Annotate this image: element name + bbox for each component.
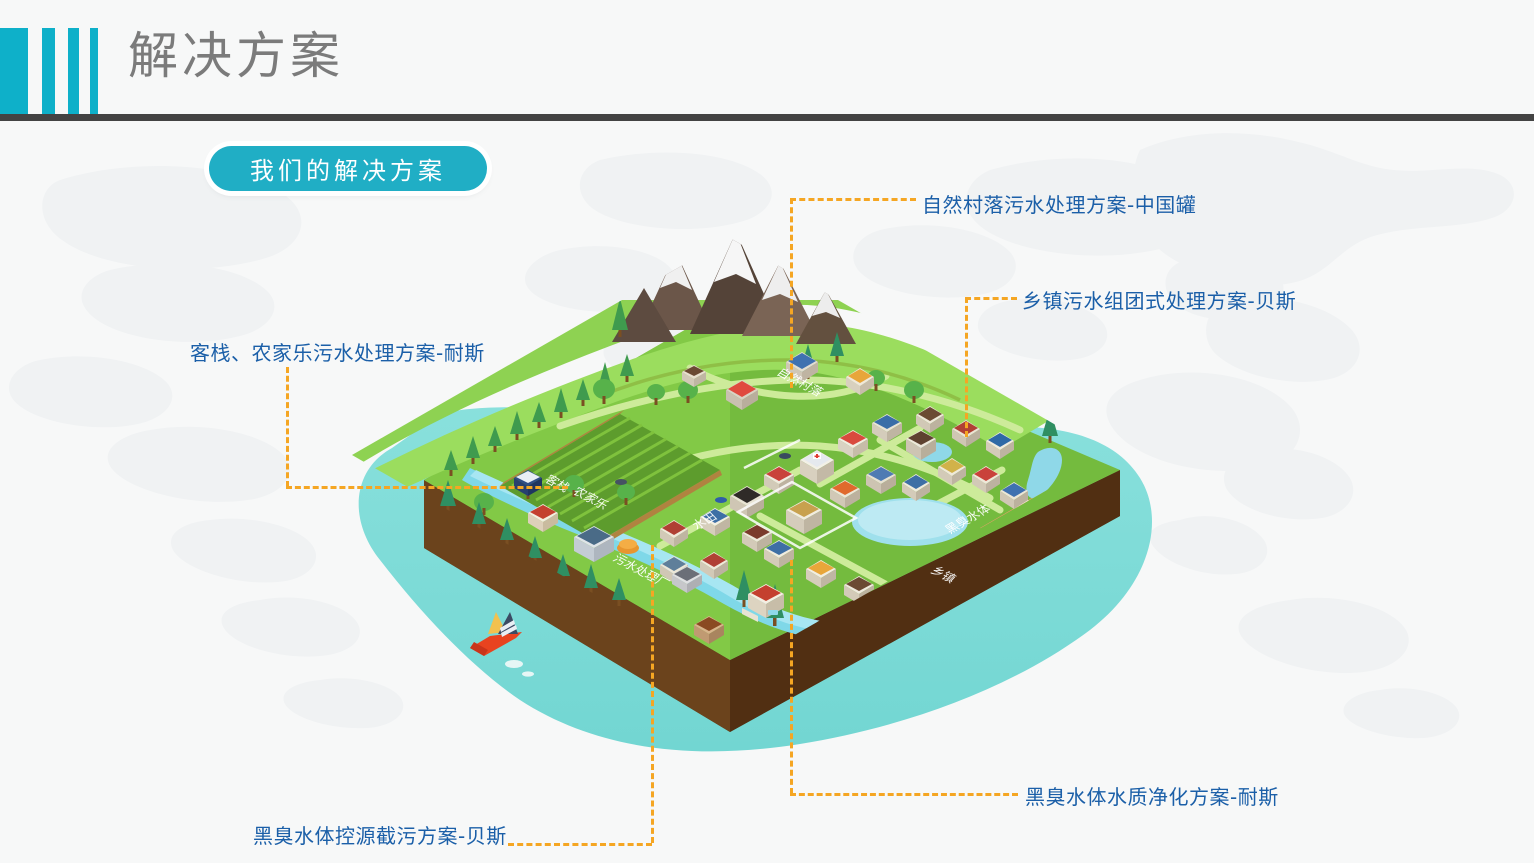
slide-canvas: 解决方案 我们的解决方案 xyxy=(0,0,1534,863)
map-label-paddy: 水田 xyxy=(689,510,720,532)
world-map-watermark xyxy=(0,0,1534,863)
connector-nice-inn-horizontal xyxy=(286,486,568,489)
connector-bess-vertical xyxy=(965,297,968,437)
map-label-farmstay: 农家乐 xyxy=(570,484,612,512)
map-label-natural-village: 自然村落 xyxy=(774,365,827,399)
connector-bess-horizontal xyxy=(965,297,1017,300)
section-badge: 我们的解决方案 xyxy=(209,146,487,191)
connector-nice-water-horizontal xyxy=(790,793,1018,796)
connector-china-tank-vertical xyxy=(790,198,793,388)
callout-label-nice-water: 黑臭水体水质净化方案-耐斯 xyxy=(1025,781,1279,810)
connector-bess-intercept-vertical xyxy=(651,545,654,843)
callout-label-bess-intercept: 黑臭水体控源截污方案-贝斯 xyxy=(253,820,507,849)
map-label-township: 乡镇 xyxy=(928,564,959,586)
callout-label-bess: 乡镇污水组团式处理方案-贝斯 xyxy=(1022,285,1296,314)
connector-bess-intercept-horizontal xyxy=(508,843,652,846)
header-divider-rule xyxy=(0,114,1534,121)
map-label-sewage-works: 污水处理厂 xyxy=(610,552,672,591)
isometric-village-illustration: 客栈 农家乐 水田 自然村落 乡镇 黑臭水体 污水处理厂 xyxy=(0,0,1534,863)
connector-china-tank-horizontal xyxy=(790,198,916,201)
connector-nice-water-vertical xyxy=(790,560,793,794)
map-label-black-odorous: 黑臭水体 xyxy=(942,501,994,536)
sailboat xyxy=(470,612,534,677)
section-badge-label: 我们的解决方案 xyxy=(250,151,446,186)
connector-nice-inn-vertical xyxy=(286,367,289,487)
sea xyxy=(359,407,1152,751)
page-title: 解决方案 xyxy=(128,26,344,86)
callout-label-nice-inn: 客栈、农家乐污水处理方案-耐斯 xyxy=(190,337,485,366)
map-label-inn: 客栈 xyxy=(542,472,573,495)
callout-label-china-tank: 自然村落污水处理方案-中国罐 xyxy=(922,189,1196,218)
